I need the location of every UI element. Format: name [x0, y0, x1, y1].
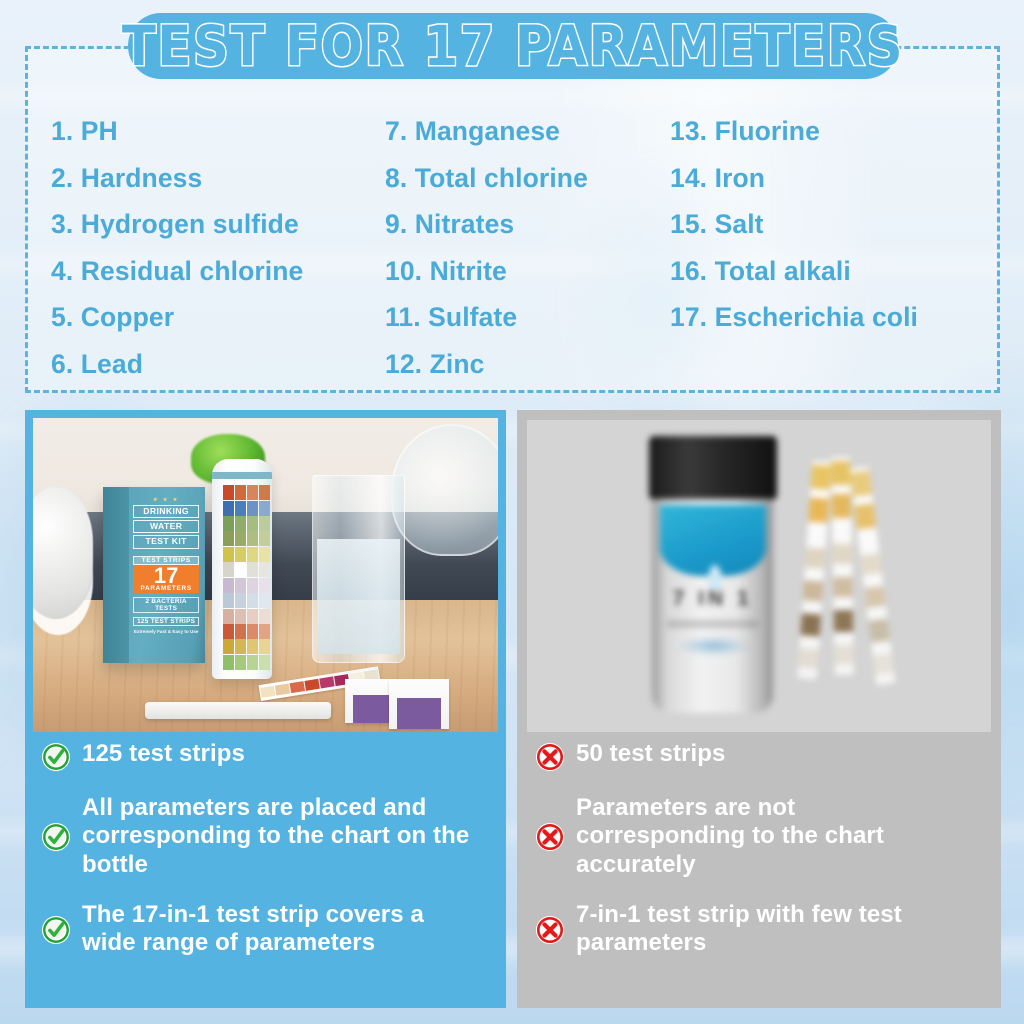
x-circle-icon — [535, 822, 565, 852]
photo-product-box: ★ ★ ★ DRINKING WATER TEST KIT TEST STRIP… — [103, 487, 205, 663]
color-chart-swatch — [247, 485, 258, 500]
color-chart-swatch — [223, 655, 234, 670]
bullet-text: 125 test strips — [82, 740, 245, 768]
photo-test-strip — [798, 460, 833, 679]
photo-box-line3: TEST KIT — [133, 535, 199, 548]
test-strip-swatch — [260, 686, 275, 698]
photo-box-badge-number-value: 17 — [154, 563, 178, 588]
parameter-item: 15. Salt — [670, 201, 990, 248]
color-chart-swatch — [223, 516, 234, 531]
parameter-item: 16. Total alkali — [670, 248, 990, 295]
color-chart-swatch — [247, 609, 258, 624]
photo-bacteria-pad — [389, 679, 449, 729]
color-chart-swatch — [223, 609, 234, 624]
photo-box-badge-bacteria: 2 BACTERIA TESTS — [133, 597, 199, 613]
page-title-banner: TEST FOR 17 PARAMETERS — [128, 13, 898, 79]
photo-bottle-cap — [649, 436, 777, 499]
bullet-text: 7-in-1 test strip with few test paramete… — [576, 901, 966, 958]
color-chart-swatch — [259, 655, 270, 670]
bullet-item: Parameters are not corresponding to the … — [535, 794, 987, 879]
color-chart-swatch — [259, 578, 270, 593]
photo-glass-vial — [145, 702, 331, 719]
color-chart-swatch — [247, 593, 258, 608]
test-strip-swatch — [289, 681, 304, 693]
parameter-item: 14. Iron — [670, 155, 990, 202]
parameters-column-3: 13. Fluorine 14. Iron 15. Salt 16. Total… — [670, 108, 990, 386]
bullet-text: 50 test strips — [576, 740, 725, 768]
bullet-item: All parameters are placed and correspond… — [41, 794, 492, 879]
photo-box-badge-count: 125 TEST STRIPS — [133, 617, 199, 626]
color-chart-swatch — [259, 516, 270, 531]
photo-bottle-label-graphic — [676, 636, 751, 655]
color-chart-swatch — [223, 578, 234, 593]
check-circle-icon — [41, 742, 71, 772]
color-chart-swatch — [223, 531, 234, 546]
comparison-panel-good: ★ ★ ★ DRINKING WATER TEST KIT TEST STRIP… — [25, 410, 506, 1008]
photo-box-line1: DRINKING — [133, 505, 199, 518]
bullet-text: Parameters are not corresponding to the … — [576, 794, 966, 879]
color-chart-swatch — [235, 578, 246, 593]
parameter-item: 6. Lead — [51, 341, 385, 388]
bullet-text: All parameters are placed and correspond… — [82, 794, 480, 879]
color-chart-swatch — [223, 485, 234, 500]
color-chart-swatch — [259, 531, 270, 546]
color-chart-swatch — [247, 547, 258, 562]
bullet-list-good: 125 test strips All parameters are place… — [25, 740, 506, 980]
color-chart-swatch — [247, 655, 258, 670]
photo-box-badge-number: 17 PARAMETERS — [133, 565, 199, 594]
color-chart-swatch — [247, 501, 258, 516]
parameter-item: 9. Nitrates — [385, 201, 670, 248]
photo-box-badge-number-label: PARAMETERS — [133, 586, 199, 593]
seven-in-one-bottle-photo: 7 IN 1 — [527, 420, 991, 732]
product-photo-frame-bad: 7 IN 1 — [517, 410, 1001, 732]
product-photo-frame-good: ★ ★ ★ DRINKING WATER TEST KIT TEST STRIP… — [25, 410, 506, 732]
photo-blur-layer: 7 IN 1 — [527, 420, 991, 732]
parameter-item: 2. Hardness — [51, 155, 385, 202]
color-chart-swatch — [259, 547, 270, 562]
photo-strip-bottle — [212, 459, 272, 679]
parameter-item: 5. Copper — [51, 294, 385, 341]
color-chart-swatch — [235, 655, 246, 670]
bullet-item: 7-in-1 test strip with few test paramete… — [535, 901, 987, 958]
color-chart-swatch — [235, 624, 246, 639]
photo-bottle-band — [212, 472, 272, 479]
color-chart-swatch — [259, 593, 270, 608]
parameter-item: 8. Total chlorine — [385, 155, 670, 202]
color-chart-swatch — [235, 593, 246, 608]
parameters-list: 1. PH 2. Hardness 3. Hydrogen sulfide 4.… — [25, 108, 1010, 386]
photo-towels — [33, 487, 93, 619]
photo-test-strip — [850, 466, 896, 685]
color-chart-swatch — [223, 547, 234, 562]
bullet-item: 125 test strips — [41, 740, 492, 772]
color-chart-swatch — [223, 639, 234, 654]
photo-bottle: 7 IN 1 — [652, 439, 773, 714]
color-chart-swatch — [259, 501, 270, 516]
parameter-item: 12. Zinc — [385, 341, 670, 388]
color-chart-swatch — [235, 639, 246, 654]
color-chart-swatch — [259, 562, 270, 577]
color-chart-swatch — [223, 624, 234, 639]
color-chart-swatch — [247, 624, 258, 639]
photo-bottle-label-subline — [667, 620, 759, 628]
page-title: TEST FOR 17 PARAMETERS — [122, 14, 904, 79]
parameter-item: 17. Escherichia coli — [670, 294, 990, 341]
color-chart-swatch — [235, 531, 246, 546]
photo-box-side — [103, 487, 130, 663]
color-chart-swatch — [235, 501, 246, 516]
check-circle-icon — [41, 915, 71, 945]
color-chart-swatch — [259, 624, 270, 639]
parameter-item: 7. Manganese — [385, 108, 670, 155]
color-chart-swatch — [235, 485, 246, 500]
color-chart-swatch — [223, 562, 234, 577]
parameters-column-1: 1. PH 2. Hardness 3. Hydrogen sulfide 4.… — [25, 108, 385, 386]
parameter-item: 4. Residual chlorine — [51, 248, 385, 295]
parameter-item: 10. Nitrite — [385, 248, 670, 295]
color-chart-swatch — [247, 578, 258, 593]
test-strip-swatch — [275, 683, 290, 695]
parameter-item: 1. PH — [51, 108, 385, 155]
photo-test-strip — [831, 457, 854, 676]
color-chart-swatch — [235, 516, 246, 531]
test-strip-swatch — [304, 679, 319, 691]
photo-box-stars: ★ ★ ★ — [153, 497, 179, 503]
color-chart-swatch — [235, 562, 246, 577]
color-chart-swatch — [259, 609, 270, 624]
color-chart-swatch — [247, 516, 258, 531]
color-chart-swatch — [247, 531, 258, 546]
color-chart-swatch — [223, 501, 234, 516]
photo-box-tagline: Extremely Fast & Easy to Use — [134, 629, 199, 634]
check-circle-icon — [41, 822, 71, 852]
parameter-item: 11. Sulfate — [385, 294, 670, 341]
photo-box-label: ★ ★ ★ DRINKING WATER TEST KIT TEST STRIP… — [130, 492, 202, 657]
x-circle-icon — [535, 742, 565, 772]
photo-box-line2: WATER — [133, 520, 199, 533]
color-chart-swatch — [235, 547, 246, 562]
color-chart-swatch — [247, 639, 258, 654]
comparison-panel-bad: 7 IN 1 — [517, 410, 1001, 1008]
bullet-item: 50 test strips — [535, 740, 987, 772]
photo-glass-jar — [391, 424, 498, 556]
parameter-item: 3. Hydrogen sulfide — [51, 201, 385, 248]
color-chart-swatch — [235, 609, 246, 624]
color-chart-swatch — [259, 639, 270, 654]
bullet-item: The 17-in-1 test strip covers a wide ran… — [41, 901, 492, 958]
x-circle-icon — [535, 915, 565, 945]
photo-color-chart — [223, 485, 270, 670]
color-chart-swatch — [259, 485, 270, 500]
test-strip-swatch — [319, 676, 334, 688]
color-chart-swatch — [247, 562, 258, 577]
bullet-text: The 17-in-1 test strip covers a wide ran… — [82, 901, 480, 958]
photo-bottle-label-text: 7 IN 1 — [652, 587, 773, 611]
parameter-item: 13. Fluorine — [670, 108, 990, 155]
drinking-water-test-kit-photo: ★ ★ ★ DRINKING WATER TEST KIT TEST STRIP… — [33, 418, 498, 732]
bullet-list-bad: 50 test strips Parameters are not corres… — [517, 740, 1001, 980]
photo-water-glass — [312, 475, 405, 663]
color-chart-swatch — [223, 593, 234, 608]
parameters-column-2: 7. Manganese 8. Total chlorine 9. Nitrat… — [385, 108, 670, 386]
